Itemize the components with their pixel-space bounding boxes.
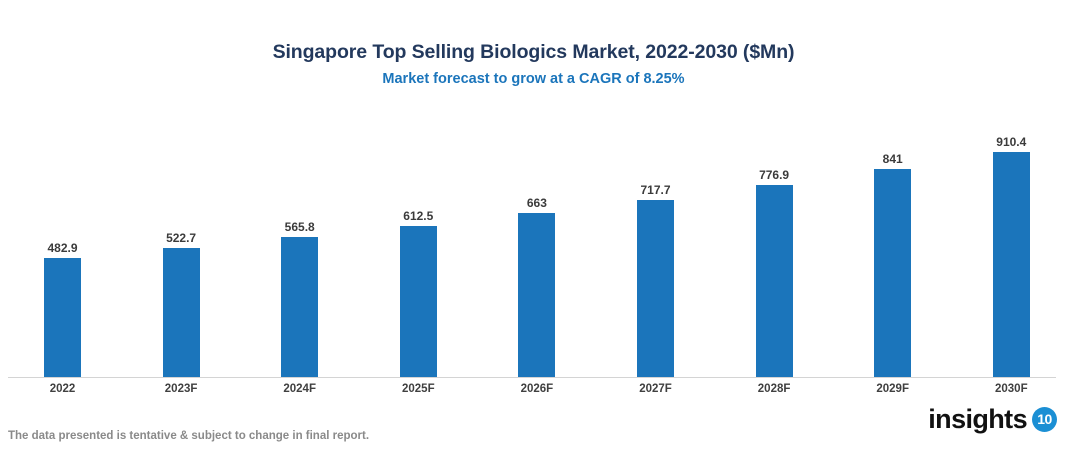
bar[interactable]	[518, 213, 555, 377]
x-axis-label: 2022	[44, 382, 81, 396]
bar-value-label: 663	[527, 197, 547, 210]
x-axis-label: 2027F	[637, 382, 674, 396]
bar-group[interactable]: 522.7	[163, 248, 200, 377]
x-axis-label: 2026F	[518, 382, 555, 396]
x-axis-label: 2029F	[874, 382, 911, 396]
logo-wordmark: insights	[928, 406, 1027, 433]
chart-container: Singapore Top Selling Biologics Market, …	[0, 0, 1067, 454]
bar-group[interactable]: 717.7	[637, 200, 674, 377]
bar[interactable]	[281, 237, 318, 377]
bar-value-label: 910.4	[996, 136, 1026, 149]
bar[interactable]	[637, 200, 674, 377]
bar-group[interactable]: 663	[518, 213, 555, 377]
bar-value-label: 717.7	[640, 184, 670, 197]
bar-group[interactable]: 910.4	[993, 152, 1030, 377]
bar-group[interactable]: 776.9	[756, 185, 793, 377]
logo-badge-icon: 10	[1032, 407, 1057, 432]
bar[interactable]	[44, 258, 81, 377]
insights10-logo: insights 10	[928, 406, 1057, 433]
bar-value-label: 612.5	[403, 210, 433, 223]
bar-value-label: 482.9	[47, 242, 77, 255]
x-axis-label: 2030F	[993, 382, 1030, 396]
bar-value-label: 841	[883, 153, 903, 166]
plot-area: 482.9522.7565.8612.5663717.7776.9841910.…	[0, 0, 1067, 454]
disclaimer-text: The data presented is tentative & subjec…	[8, 429, 369, 443]
x-axis-label: 2024F	[281, 382, 318, 396]
bar[interactable]	[400, 226, 437, 377]
bar[interactable]	[993, 152, 1030, 377]
bar-group[interactable]: 841	[874, 169, 911, 377]
bar-group[interactable]: 612.5	[400, 226, 437, 377]
x-axis-label: 2028F	[756, 382, 793, 396]
x-axis-line	[8, 377, 1056, 378]
bar-value-label: 565.8	[285, 221, 315, 234]
bar-value-label: 776.9	[759, 169, 789, 182]
x-axis-label: 2025F	[400, 382, 437, 396]
bar[interactable]	[163, 248, 200, 377]
bar[interactable]	[756, 185, 793, 377]
bar-value-label: 522.7	[166, 232, 196, 245]
bar[interactable]	[874, 169, 911, 377]
bar-group[interactable]: 482.9	[44, 258, 81, 377]
bar-group[interactable]: 565.8	[281, 237, 318, 377]
x-axis-label: 2023F	[163, 382, 200, 396]
